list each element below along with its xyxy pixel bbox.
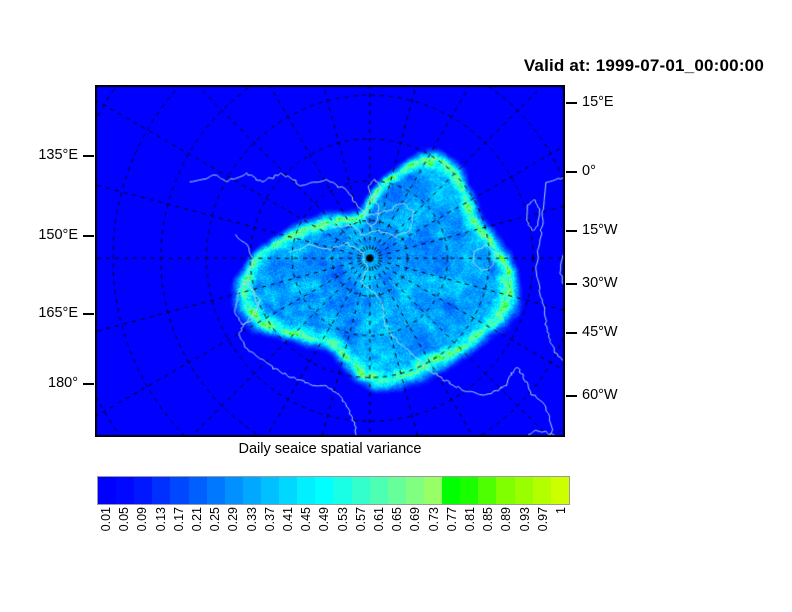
colorbar-swatch-12 [315,477,333,504]
colorbar-tick-label-5: 0.21 [190,507,204,531]
colorbar-tick-label-10: 0.41 [281,507,295,531]
colorbar [97,476,570,505]
left-axis-label-1: 150°E [38,227,78,243]
colorbar-swatch-6 [207,477,225,504]
colorbar-tick-label-14: 0.57 [354,507,368,531]
colorbar-tick-label-6: 0.25 [208,507,222,531]
colorbar-tick-label-17: 0.69 [408,507,422,531]
colorbar-tick-label-16: 0.65 [390,507,404,531]
right-axis-tick-3 [566,283,577,285]
colorbar-swatch-3 [152,477,170,504]
left-axis-label-3: 180° [48,375,78,391]
colorbar-swatch-22 [496,477,514,504]
colorbar-swatch-23 [515,477,533,504]
left-axis-tick-2 [83,313,94,315]
left-axis-tick-1 [83,235,94,237]
colorbar-tick-label-22: 0.89 [499,507,513,531]
colorbar-swatch-4 [170,477,188,504]
colorbar-swatch-25 [551,477,569,504]
colorbar-tick-label-0: 0.01 [99,507,113,531]
colorbar-swatch-11 [297,477,315,504]
plot-caption: Daily seaice spatial variance [95,441,565,457]
colorbar-swatch-18 [424,477,442,504]
colorbar-swatch-21 [478,477,496,504]
colorbar-swatch-0 [98,477,116,504]
right-axis-label-5: 60°W [582,387,618,403]
colorbar-tick-label-2: 0.09 [135,507,149,531]
right-axis-label-4: 45°W [582,324,618,340]
right-axis-tick-1 [566,171,577,173]
right-axis-tick-2 [566,230,577,232]
colorbar-swatch-10 [279,477,297,504]
colorbar-gradient [97,476,570,505]
left-axis-tick-3 [83,383,94,385]
right-axis-tick-5 [566,395,577,397]
colorbar-tick-label-15: 0.61 [372,507,386,531]
colorbar-tick-label-12: 0.49 [317,507,331,531]
map-plot-frame [95,85,565,437]
colorbar-tick-label-20: 0.81 [463,507,477,531]
colorbar-swatch-1 [116,477,134,504]
colorbar-tick-label-4: 0.17 [172,507,186,531]
left-axis-label-0: 135°E [38,147,78,163]
colorbar-tick-label-8: 0.33 [245,507,259,531]
colorbar-tick-label-23: 0.93 [518,507,532,531]
right-axis-tick-4 [566,332,577,334]
left-axis-tick-0 [83,155,94,157]
colorbar-tick-labels: 0.010.050.090.130.170.210.250.290.330.37… [97,507,570,577]
colorbar-swatch-20 [460,477,478,504]
colorbar-swatch-14 [352,477,370,504]
colorbar-swatch-7 [225,477,243,504]
right-axis-label-0: 15°E [582,94,614,110]
colorbar-tick-label-19: 0.77 [445,507,459,531]
right-axis-label-1: 0° [582,163,596,179]
colorbar-swatch-24 [533,477,551,504]
colorbar-tick-label-3: 0.13 [154,507,168,531]
colorbar-tick-label-21: 0.85 [481,507,495,531]
colorbar-swatch-16 [388,477,406,504]
left-axis-label-2: 165°E [38,305,78,321]
colorbar-swatch-9 [261,477,279,504]
colorbar-swatch-19 [442,477,460,504]
colorbar-swatch-17 [406,477,424,504]
colorbar-tick-label-1: 0.05 [117,507,131,531]
colorbar-tick-label-25: 1 [554,507,568,514]
right-axis-label-2: 15°W [582,222,618,238]
right-axis-label-3: 30°W [582,275,618,291]
seaice-variance-map [96,86,564,436]
colorbar-swatch-13 [333,477,351,504]
colorbar-tick-label-11: 0.45 [299,507,313,531]
colorbar-tick-label-9: 0.37 [263,507,277,531]
right-axis-tick-0 [566,102,577,104]
colorbar-tick-label-7: 0.29 [226,507,240,531]
colorbar-tick-label-24: 0.97 [536,507,550,531]
colorbar-swatch-5 [189,477,207,504]
colorbar-swatch-2 [134,477,152,504]
colorbar-swatch-15 [370,477,388,504]
map-panel: 135°E150°E165°E180° 15°E0°15°W30°W45°W60… [95,85,565,437]
colorbar-tick-label-18: 0.73 [427,507,441,531]
colorbar-swatch-8 [243,477,261,504]
colorbar-tick-label-13: 0.53 [336,507,350,531]
page-title: Valid at: 1999-07-01_00:00:00 [524,56,764,76]
